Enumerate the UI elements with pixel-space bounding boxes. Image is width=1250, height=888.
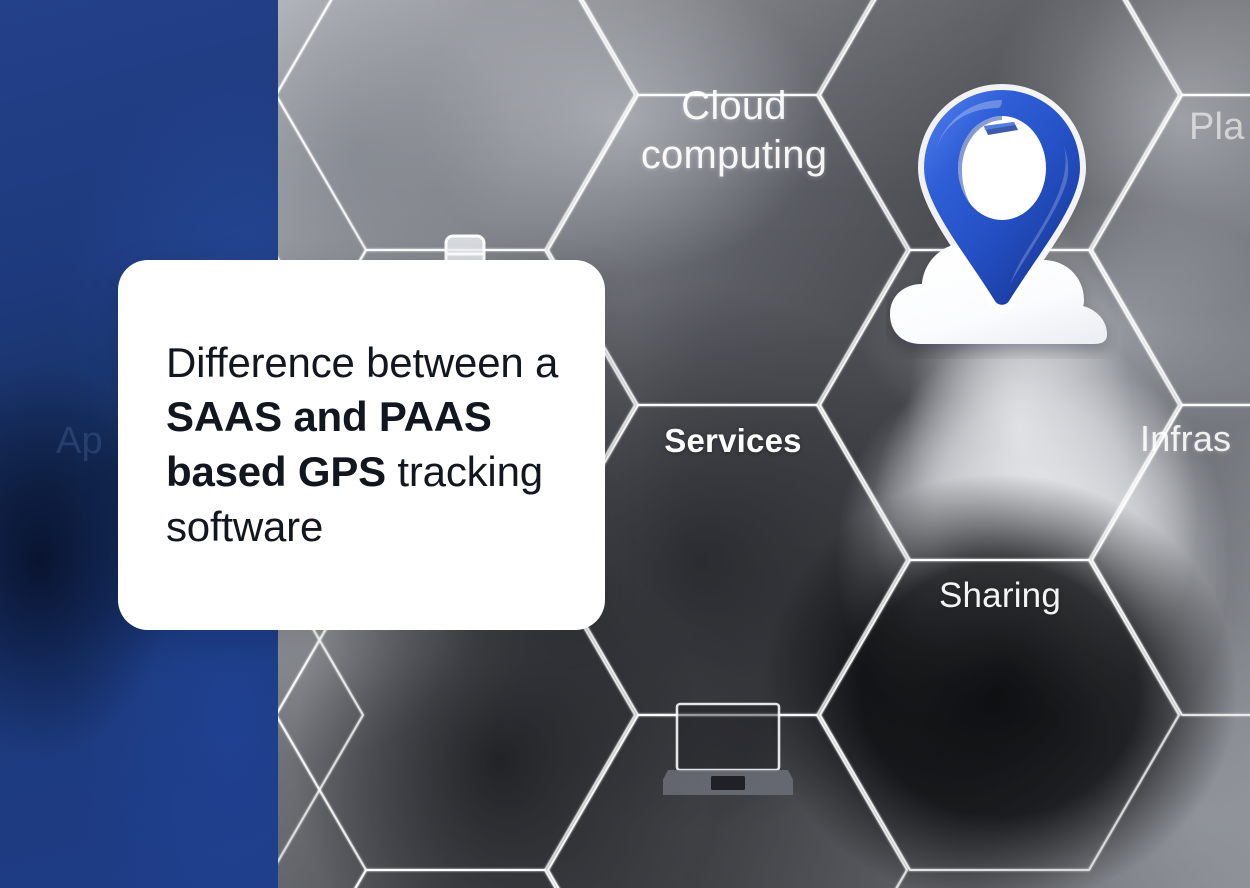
headline-card: Difference between a SAAS and PAAS based… (118, 260, 605, 630)
page-title: Difference between a SAAS and PAAS based… (118, 336, 605, 554)
laptop-icon (663, 700, 793, 800)
headline-plain-lead: Difference between a (166, 339, 558, 386)
gps-pin-on-cloud-graphic (886, 74, 1118, 359)
banner-image: Cloud computing Services Sharing Pla Inf… (0, 0, 1250, 888)
